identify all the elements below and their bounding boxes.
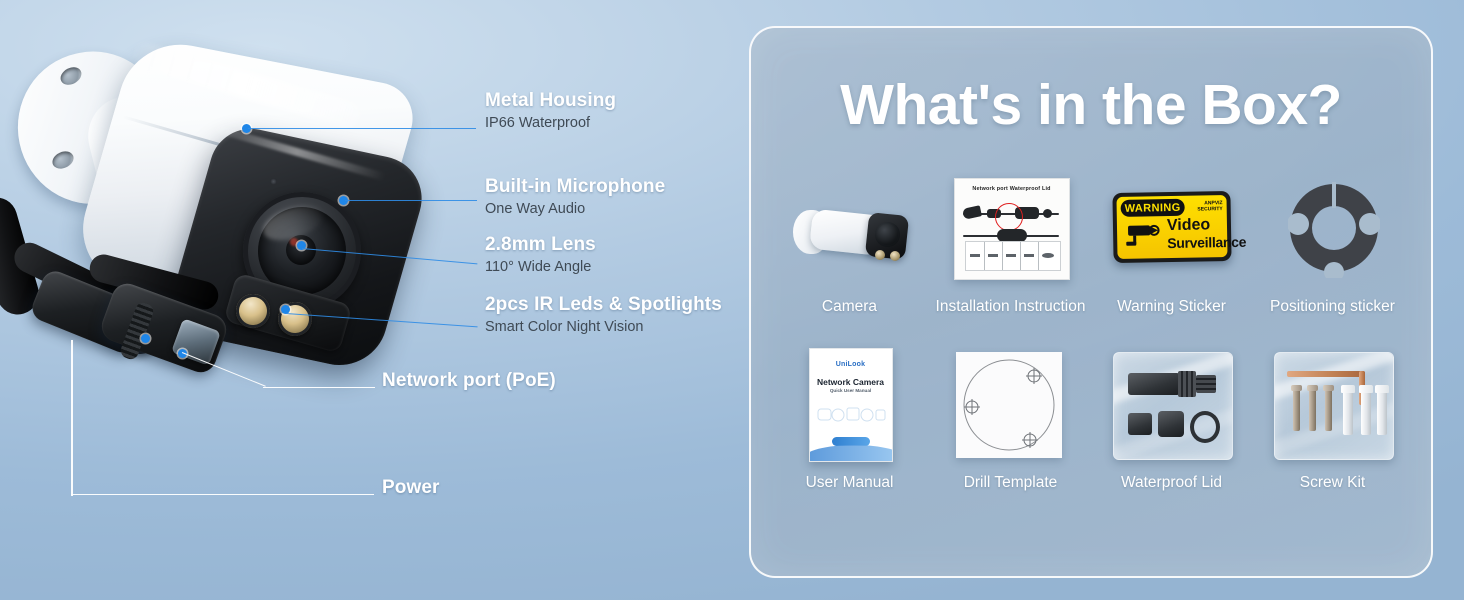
cctv-camera-icon bbox=[1123, 221, 1164, 254]
leader-line-microphone bbox=[345, 200, 477, 201]
whats-in-the-box-panel: What's in the Box? Camera Network port W… bbox=[749, 26, 1433, 578]
callout-subtitle: IP66 Waterproof bbox=[485, 115, 616, 131]
callout-title: Metal Housing bbox=[485, 90, 616, 112]
bullet-camera-icon bbox=[787, 170, 913, 288]
callout-subtitle: Smart Color Night Vision bbox=[485, 319, 722, 335]
box-contents-grid: Camera Network port Waterproof Lid bbox=[769, 170, 1413, 492]
drill-template-icon bbox=[948, 346, 1074, 464]
manual-wave bbox=[809, 445, 893, 462]
sticker-brand: ANPVIZ SECURITY bbox=[1197, 200, 1222, 213]
warning-heading-pill: WARNING bbox=[1120, 199, 1184, 217]
box-item-screw-kit: Screw Kit bbox=[1252, 346, 1413, 492]
callout-power: Power bbox=[382, 477, 440, 499]
leader-line-power-vertical bbox=[71, 340, 73, 496]
callout-title: 2pcs IR Leds & Spotlights bbox=[485, 294, 722, 316]
leader-line-network-port bbox=[263, 387, 375, 388]
callout-title: Power bbox=[382, 477, 440, 499]
box-item-caption: Waterproof Lid bbox=[1121, 474, 1222, 492]
manual-logo: UniLook bbox=[810, 361, 892, 368]
leader-line-power bbox=[71, 494, 374, 495]
warning-sticker-icon: WARNING ANPVIZ SECURITY bbox=[1109, 170, 1235, 288]
callout-ir-leds-spotlights: 2pcs IR Leds & Spotlights Smart Color Ni… bbox=[485, 294, 722, 335]
microphone-hole bbox=[270, 178, 277, 185]
callout-network-port: Network port (PoE) bbox=[382, 370, 556, 392]
manual-subtitle: Quick User Manual bbox=[810, 388, 892, 393]
box-item-caption: Camera bbox=[822, 298, 877, 316]
manual-camera-illustrations bbox=[816, 401, 886, 427]
box-item-user-manual: UniLook Network Camera Quick User Manual bbox=[769, 346, 930, 492]
infographic-canvas: Metal Housing IP66 Waterproof Built-in M… bbox=[0, 0, 1464, 600]
box-item-waterproof-lid: Waterproof Lid bbox=[1091, 346, 1252, 492]
box-item-positioning-sticker: Positioning sticker bbox=[1252, 170, 1413, 316]
box-item-warning-sticker: WARNING ANPVIZ SECURITY bbox=[1091, 170, 1252, 316]
box-item-installation-instruction: Network port Waterproof Lid bbox=[930, 170, 1091, 316]
camera-product-illustration: Metal Housing IP66 Waterproof Built-in M… bbox=[0, 0, 740, 600]
box-item-caption: User Manual bbox=[806, 474, 894, 492]
box-item-drill-template: Drill Template bbox=[930, 346, 1091, 492]
callout-subtitle: 110° Wide Angle bbox=[485, 259, 596, 275]
callout-built-in-microphone: Built-in Microphone One Way Audio bbox=[485, 176, 665, 217]
screw-kit-icon bbox=[1270, 346, 1396, 464]
panel-title: What's in the Box? bbox=[751, 72, 1431, 138]
callout-metal-housing: Metal Housing IP66 Waterproof bbox=[485, 90, 616, 131]
leader-line-metal-housing bbox=[248, 128, 476, 129]
positioning-ring-icon bbox=[1270, 170, 1396, 288]
manual-title: Network Camera bbox=[810, 377, 892, 387]
sticker-text: Video Surveillance bbox=[1166, 217, 1223, 251]
callout-title: Network port (PoE) bbox=[382, 370, 556, 392]
box-item-caption: Screw Kit bbox=[1300, 474, 1365, 492]
instruction-sheet-icon: Network port Waterproof Lid bbox=[948, 170, 1074, 288]
sheet-title: Network port Waterproof Lid bbox=[955, 186, 1069, 192]
callout-subtitle: One Way Audio bbox=[485, 201, 665, 217]
callout-title: Built-in Microphone bbox=[485, 176, 665, 198]
callout-title: 2.8mm Lens bbox=[485, 234, 596, 256]
box-item-caption: Positioning sticker bbox=[1270, 298, 1395, 316]
box-item-caption: Drill Template bbox=[964, 474, 1058, 492]
warning-heading: WARNING bbox=[1124, 201, 1180, 214]
user-manual-icon: UniLook Network Camera Quick User Manual bbox=[787, 346, 913, 464]
box-item-camera: Camera bbox=[769, 170, 930, 316]
box-item-caption: Warning Sticker bbox=[1117, 298, 1226, 316]
callout-lens: 2.8mm Lens 110° Wide Angle bbox=[485, 234, 596, 275]
waterproof-lid-icon bbox=[1109, 346, 1235, 464]
callout-dot-power bbox=[141, 334, 150, 343]
box-item-caption: Installation Instruction bbox=[936, 298, 1086, 316]
